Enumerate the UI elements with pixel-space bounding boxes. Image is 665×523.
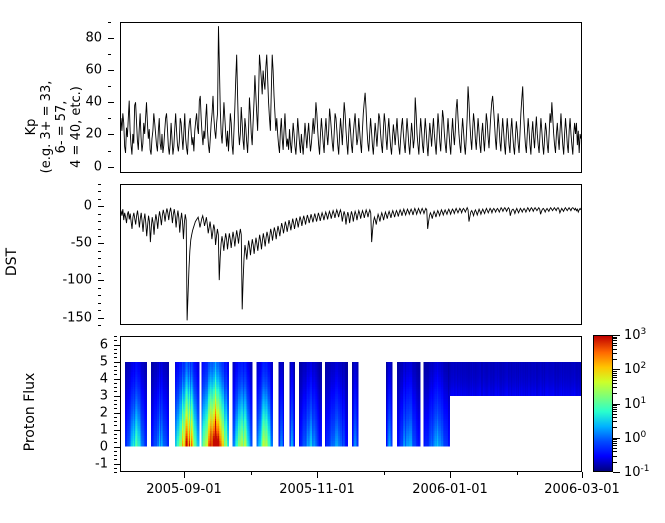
heatmap-cell: [251, 392, 252, 395]
heatmap-cell: [228, 365, 229, 368]
heatmap-cell: [228, 389, 229, 392]
heatmap-cell: [146, 384, 147, 387]
heatmap-cell: [146, 404, 147, 407]
heatmap-cell: [146, 406, 147, 409]
heatmap-cell: [251, 421, 252, 424]
y-minor-tick: [108, 118, 111, 119]
heatmap-cell: [146, 399, 147, 402]
dst-axis-title: DST: [4, 248, 20, 276]
heatmap-cell: [146, 438, 147, 441]
heatmap-cell: [146, 419, 147, 422]
y-major-tick: [108, 70, 114, 71]
y-major-tick: [98, 206, 104, 207]
heatmap-cell: [146, 431, 147, 434]
heatmap-cell: [146, 402, 147, 405]
heatmap-cell: [272, 382, 273, 385]
heatmap-cell: [251, 389, 252, 392]
heatmap-cell: [272, 384, 273, 387]
heatmap-cell: [228, 370, 229, 373]
heatmap-cell: [198, 438, 199, 441]
heatmap-cell: [168, 377, 169, 380]
heatmap-cell: [198, 377, 199, 380]
heatmap-cell: [272, 429, 273, 432]
heatmap-cell: [251, 409, 252, 412]
heatmap-cell: [146, 382, 147, 385]
heatmap-cell: [251, 372, 252, 375]
y-tick-label: 0: [84, 200, 92, 213]
y-minor-tick: [98, 303, 101, 304]
y-major-tick: [98, 243, 104, 244]
heatmap-cell: [251, 362, 252, 365]
y-minor-tick: [98, 288, 101, 289]
kp-plot-panel: [120, 22, 582, 173]
heatmap-cell: [198, 414, 199, 417]
heatmap-cell: [228, 384, 229, 387]
heatmap-cell: [228, 372, 229, 375]
kp-y-axis: 020406080: [80, 22, 114, 173]
heatmap-cell: [168, 365, 169, 368]
heatmap-cell: [198, 367, 199, 370]
y-minor-tick: [98, 236, 101, 237]
heatmap-cell: [228, 392, 229, 395]
heatmap-cell: [272, 416, 273, 419]
heatmap-cell: [146, 441, 147, 444]
heatmap-cell: [228, 443, 229, 446]
heatmap-cell: [168, 424, 169, 427]
y-minor-tick: [108, 22, 111, 23]
heatmap-cell: [198, 409, 199, 412]
heatmap-cell: [272, 377, 273, 380]
heatmap-cell: [228, 374, 229, 377]
heatmap-cell: [228, 426, 229, 429]
y-tick-label: -150: [62, 311, 92, 324]
heatmap-cell: [251, 402, 252, 405]
heatmap-cell: [228, 379, 229, 382]
y-tick-label: 60: [85, 64, 102, 77]
y-minor-tick: [98, 325, 101, 326]
heatmap-cell: [228, 367, 229, 370]
heatmap-cell: [251, 424, 252, 427]
heatmap-cell: [251, 387, 252, 390]
heatmap-cell: [168, 429, 169, 432]
heatmap-cell: [146, 436, 147, 439]
heatmap-cell: [198, 426, 199, 429]
heatmap-cell: [272, 424, 273, 427]
proton-flux-plot-panel: [120, 336, 582, 472]
y-tick-label: -100: [62, 274, 92, 287]
heatmap-cell: [146, 367, 147, 370]
heatmap-cell: [146, 409, 147, 412]
y-minor-tick: [98, 310, 101, 311]
heatmap-cell: [146, 443, 147, 446]
heatmap-cell: [228, 431, 229, 434]
heatmap-cell: [168, 443, 169, 446]
heatmap-cell: [168, 421, 169, 424]
heatmap-cell: [228, 429, 229, 432]
heatmap-cell: [168, 409, 169, 412]
heatmap-cell: [272, 389, 273, 392]
heatmap-cell: [228, 438, 229, 441]
heatmap-cell: [168, 404, 169, 407]
heatmap-cell: [228, 424, 229, 427]
heatmap-cell: [198, 416, 199, 419]
heatmap-cell: [168, 392, 169, 395]
heatmap-cell: [251, 419, 252, 422]
kp-axis-title-line-2: 6- = 57,: [54, 47, 69, 207]
heatmap-cell: [251, 384, 252, 387]
heatmap-cell: [198, 399, 199, 402]
heatmap-cell: [251, 431, 252, 434]
heatmap-cell: [251, 394, 252, 397]
heatmap-cell: [146, 392, 147, 395]
heatmap-cell: [228, 387, 229, 390]
heatmap-cell: [146, 370, 147, 373]
heatmap-cell: [251, 382, 252, 385]
heatmap-cell: [198, 434, 199, 437]
heatmap-cell: [228, 441, 229, 444]
heatmap-cell: [146, 411, 147, 414]
proton-flux-heatmap: [121, 337, 581, 471]
heatmap-cell: [198, 421, 199, 424]
heatmap-cell: [272, 392, 273, 395]
y-tick-label: 40: [85, 96, 102, 109]
y-minor-tick: [98, 214, 101, 215]
heatmap-cell: [228, 409, 229, 412]
heatmap-cell: [146, 362, 147, 365]
kp-axis-title: Kp (e.g. 3+ = 33, 6- = 57, 4 = 40, etc.): [24, 47, 84, 207]
y-tick-label: 0: [94, 160, 102, 173]
heatmap-cell: [146, 372, 147, 375]
heatmap-cell: [198, 362, 199, 365]
heatmap-cell: [272, 362, 273, 365]
heatmap-cell: [168, 389, 169, 392]
heatmap-cell: [228, 394, 229, 397]
heatmap-cell: [198, 372, 199, 375]
heatmap-cell: [228, 434, 229, 437]
heatmap-cell: [198, 365, 199, 368]
heatmap-cell: [272, 404, 273, 407]
heatmap-cell: [272, 419, 273, 422]
heatmap-cell: [251, 399, 252, 402]
heatmap-cell: [168, 434, 169, 437]
heatmap-cell: [198, 384, 199, 387]
heatmap-cell: [168, 387, 169, 390]
y-minor-tick: [98, 229, 101, 230]
kp-series: [121, 23, 581, 172]
heatmap-cell: [146, 426, 147, 429]
heatmap-cell: [198, 429, 199, 432]
heatmap-cell: [251, 411, 252, 414]
heatmap-cell: [198, 411, 199, 414]
heatmap-cell: [198, 406, 199, 409]
y-major-tick: [108, 167, 114, 168]
heatmap-cell: [198, 389, 199, 392]
heatmap-cell: [198, 424, 199, 427]
heatmap-cell: [251, 438, 252, 441]
heatmap-cell: [272, 436, 273, 439]
y-minor-tick: [108, 86, 111, 87]
heatmap-cell: [198, 382, 199, 385]
heatmap-cell: [228, 362, 229, 365]
y-minor-tick: [108, 151, 111, 152]
heatmap-cell: [168, 382, 169, 385]
heatmap-cell: [251, 429, 252, 432]
heatmap-cell: [228, 397, 229, 400]
heatmap-cell: [272, 374, 273, 377]
heatmap-cell: [168, 438, 169, 441]
heatmap-cell: [251, 367, 252, 370]
heatmap-cell: [168, 384, 169, 387]
series-line: [121, 26, 581, 156]
y-tick-label: 20: [85, 128, 102, 141]
y-minor-tick: [98, 251, 101, 252]
heatmap-cell: [146, 377, 147, 380]
heatmap-cell: [272, 387, 273, 390]
heatmap-cell: [272, 399, 273, 402]
heatmap-cell: [146, 397, 147, 400]
heatmap-cell: [198, 443, 199, 446]
heatmap-cell: [272, 421, 273, 424]
heatmap-cell: [228, 402, 229, 405]
heatmap-cell: [251, 397, 252, 400]
heatmap-cell: [168, 399, 169, 402]
heatmap-cell: [228, 411, 229, 414]
heatmap-cell: [168, 402, 169, 405]
y-minor-tick: [98, 266, 101, 267]
kp-axis-title-line-0: Kp: [24, 47, 39, 207]
heatmap-cell: [146, 434, 147, 437]
heatmap-cell: [198, 379, 199, 382]
heatmap-cell: [198, 370, 199, 373]
heatmap-cell: [168, 416, 169, 419]
heatmap-cell: [251, 406, 252, 409]
heatmap-cell: [228, 421, 229, 424]
y-minor-tick: [98, 258, 101, 259]
heatmap-cell: [146, 374, 147, 377]
heatmap-cell: [168, 379, 169, 382]
series-line: [121, 208, 581, 321]
heatmap-cell: [272, 379, 273, 382]
heatmap-cell: [228, 377, 229, 380]
heatmap-cell: [272, 441, 273, 444]
y-minor-tick: [98, 295, 101, 296]
heatmap-cell: [168, 414, 169, 417]
heatmap-cell: [198, 402, 199, 405]
heatmap-cell: [251, 370, 252, 373]
y-minor-tick: [98, 191, 101, 192]
dst-series: [121, 185, 581, 324]
dst-y-axis: 0-50-100-150: [70, 184, 104, 325]
heatmap-cell: [272, 438, 273, 441]
heatmap-cell: [228, 406, 229, 409]
y-major-tick: [108, 38, 114, 39]
heatmap-cell: [228, 382, 229, 385]
heatmap-cell: [272, 372, 273, 375]
heatmap-cell: [272, 411, 273, 414]
heatmap-cell: [272, 426, 273, 429]
heatmap-cell: [251, 374, 252, 377]
heatmap-cell: [168, 367, 169, 370]
heatmap-cell: [168, 394, 169, 397]
heatmap-cell: [146, 365, 147, 368]
kp-axis-title-line-1: (e.g. 3+ = 33,: [39, 47, 54, 207]
heatmap-cell: [168, 436, 169, 439]
kp-axis-title-line-3: 4 = 40, etc.): [69, 47, 84, 207]
heatmap-cell: [272, 370, 273, 373]
heatmap-cell: [251, 416, 252, 419]
heatmap-cell: [272, 367, 273, 370]
heatmap-cell: [198, 392, 199, 395]
heatmap-cell: [198, 436, 199, 439]
heatmap-cell: [228, 414, 229, 417]
heatmap-cell: [168, 406, 169, 409]
heatmap-cell: [168, 441, 169, 444]
heatmap-cell: [228, 419, 229, 422]
y-tick-label: 80: [85, 32, 102, 45]
heatmap-cell: [228, 436, 229, 439]
heatmap-cell: [272, 402, 273, 405]
heatmap-cell: [272, 406, 273, 409]
heatmap-cell: [198, 431, 199, 434]
heatmap-cell: [146, 414, 147, 417]
heatmap-cell: [198, 374, 199, 377]
heatmap-cell: [168, 370, 169, 373]
heatmap-cell: [251, 377, 252, 380]
heatmap-cell: [168, 362, 169, 365]
heatmap-cell: [251, 404, 252, 407]
heatmap-cell: [198, 441, 199, 444]
heatmap-cell: [272, 397, 273, 400]
heatmap-cell: [251, 434, 252, 437]
y-major-tick: [98, 280, 104, 281]
heatmap-cell: [168, 372, 169, 375]
dst-plot-panel: [120, 184, 582, 325]
heatmap-cell: [228, 416, 229, 419]
y-minor-tick: [98, 273, 101, 274]
heatmap-cell: [146, 379, 147, 382]
heatmap-cell: [272, 434, 273, 437]
y-minor-tick: [108, 54, 111, 55]
heatmap-cell: [146, 421, 147, 424]
heatmap-cell: [272, 431, 273, 434]
heatmap-cell: [168, 397, 169, 400]
heatmap-cell: [251, 365, 252, 368]
heatmap-cell: [198, 387, 199, 390]
heatmap-cell: [168, 411, 169, 414]
heatmap-cell: [146, 416, 147, 419]
heatmap-cell: [168, 431, 169, 434]
heatmap-cell: [168, 374, 169, 377]
heatmap-cell: [146, 424, 147, 427]
heatmap-cell: [146, 429, 147, 432]
heatmap-cell: [251, 436, 252, 439]
heatmap-cell: [198, 404, 199, 407]
heatmap-cell: [168, 426, 169, 429]
heatmap-cell: [146, 394, 147, 397]
y-major-tick: [98, 318, 104, 319]
heatmap-cell: [198, 397, 199, 400]
heatmap-cell: [198, 394, 199, 397]
heatmap-cell: [272, 414, 273, 417]
y-tick-label: -50: [71, 237, 92, 250]
y-major-tick: [108, 102, 114, 103]
heatmap-cell: [272, 394, 273, 397]
heatmap-cell: [272, 365, 273, 368]
y-minor-tick: [98, 184, 101, 185]
y-major-tick: [108, 134, 114, 135]
heatmap-cell: [146, 387, 147, 390]
heatmap-cell: [251, 441, 252, 444]
heatmap-cell: [272, 443, 273, 446]
heatmap-cell: [228, 399, 229, 402]
heatmap-cell: [146, 389, 147, 392]
y-minor-tick: [98, 199, 101, 200]
heatmap-cell: [272, 409, 273, 412]
heatmap-cell: [251, 426, 252, 429]
heatmap-cell: [251, 414, 252, 417]
heatmap-cell: [228, 404, 229, 407]
heatmap-cell: [251, 379, 252, 382]
heatmap-cell: [198, 419, 199, 422]
heatmap-cell: [168, 419, 169, 422]
y-minor-tick: [98, 221, 101, 222]
scientific-figure: 020406080 Kp (e.g. 3+ = 33, 6- = 57, 4 =…: [0, 0, 665, 523]
heatmap-cell: [251, 443, 252, 446]
